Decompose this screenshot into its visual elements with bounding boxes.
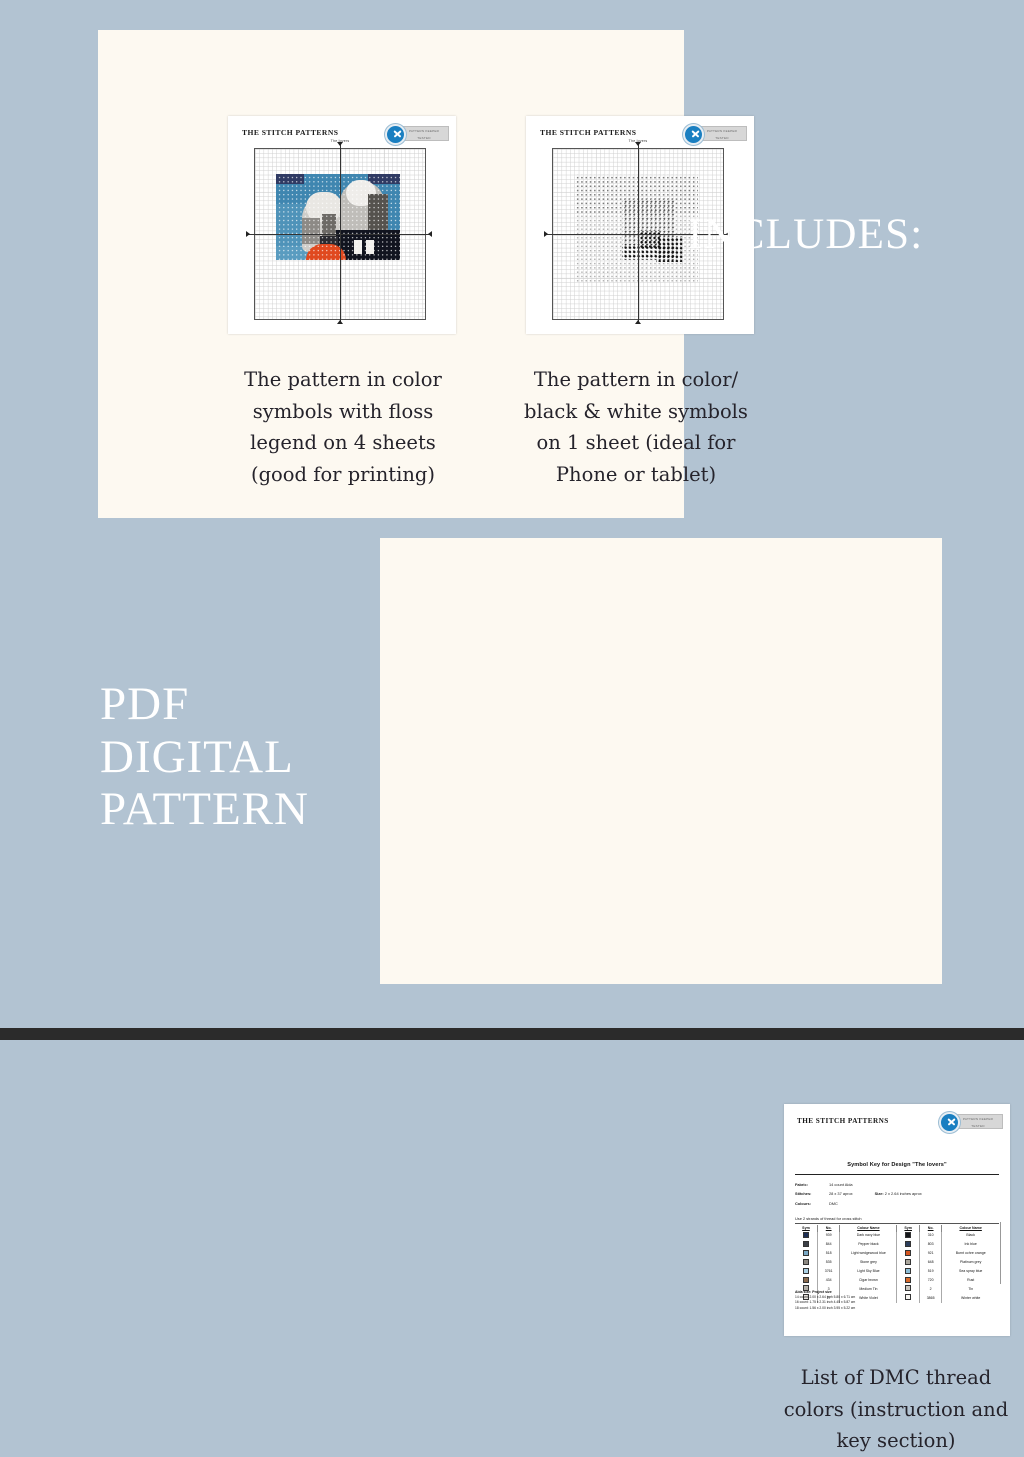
column-divider <box>1000 1222 1001 1284</box>
cell-colour-name: Light wedgewood blue <box>840 1249 897 1258</box>
spec-label: Stitches: <box>795 1189 829 1198</box>
caption-bw-symbols: The pattern in color/ black & white symb… <box>516 364 756 490</box>
x-check-badge-icon <box>939 1112 960 1133</box>
cell-colour-name: Dark navy blue <box>840 1232 897 1241</box>
color-swatch <box>803 1268 809 1274</box>
cell-no: 519 <box>919 1267 941 1276</box>
cell-colour-name: Tin <box>942 1285 999 1294</box>
color-swatch <box>905 1294 911 1300</box>
cell-no: 720 <box>919 1276 941 1285</box>
color-swatch <box>803 1250 809 1256</box>
cell-sym <box>795 1249 817 1258</box>
cell-no: 310 <box>919 1232 941 1241</box>
cell-colour-name: Stone grey <box>840 1258 897 1267</box>
bottom-bar <box>0 1028 1024 1040</box>
color-swatch <box>803 1277 809 1283</box>
cell-colour-name: Cigar brown <box>840 1276 897 1285</box>
chart-artwork <box>276 174 400 284</box>
table-row: 518Light wedgewood blue921Burnt ochre or… <box>795 1249 999 1258</box>
cell-no: 3865 <box>919 1294 941 1303</box>
color-swatch <box>803 1241 809 1247</box>
aida-heading-b: Project size <box>812 1290 831 1294</box>
badge-line1: PATTERN KEEPER <box>400 127 448 134</box>
cell-sym <box>897 1258 919 1267</box>
color-swatch <box>905 1241 911 1247</box>
symbol-key-title: Symbol Key for Design "The lovers" <box>784 1162 1010 1168</box>
fabric-specs: Fabric:14 count Aida Stitches:28 x 37 ap… <box>795 1180 922 1208</box>
cell-sym <box>795 1232 817 1241</box>
cell-colour-name: Winter white <box>942 1294 999 1303</box>
cell-sym <box>897 1240 919 1249</box>
caption-dmc-list: List of DMC thread colors (instruction a… <box>776 1362 1016 1457</box>
table-row: 3761Light Sky Blue519Sea spray blue <box>795 1267 999 1276</box>
spec-label: Colours: <box>795 1199 829 1208</box>
cell-no: 535 <box>817 1258 839 1267</box>
promo-graphic: THE STITCH PATTERNS PATTERN KEEPER TESTE… <box>0 0 1024 1040</box>
cell-no: 434 <box>817 1276 839 1285</box>
cell-sym <box>897 1276 919 1285</box>
table-row: 939Dark navy blue310Black <box>795 1232 999 1241</box>
color-swatch <box>905 1259 911 1265</box>
table-row: 434Cigar brown720Rust <box>795 1276 999 1285</box>
aida-heading-a: Aida size: <box>795 1290 811 1294</box>
cell-colour-name: Pepper black <box>840 1240 897 1249</box>
spec-label: Fabric: <box>795 1180 829 1189</box>
sheet-color-symbol-chart[interactable]: THE STITCH PATTERNS PATTERN KEEPER TESTE… <box>228 116 456 334</box>
use-strands-note: Use 2 strands of thread for cross stitch <box>795 1216 862 1221</box>
cell-no: 921 <box>919 1249 941 1258</box>
badge-line1: PATTERN KEEPER <box>698 127 746 134</box>
pdf-line-2: DIGITAL <box>100 731 370 784</box>
cell-colour-name: Rust <box>942 1276 999 1285</box>
size-value: 2 x 2.64 inches aprox <box>885 1191 922 1196</box>
cell-sym <box>795 1258 817 1267</box>
cell-no: 2 <box>919 1285 941 1294</box>
pattern-keeper-badge: PATTERN KEEPER TESTED <box>939 1112 1001 1129</box>
cell-colour-name: Sea spray blue <box>942 1267 999 1276</box>
sheet-symbol-key[interactable]: THE STITCH PATTERNS PATTERN KEEPER TESTE… <box>784 1104 1010 1336</box>
spec-value: DMC <box>829 1201 838 1206</box>
cell-sym <box>897 1285 919 1294</box>
sheet-title: THE STITCH PATTERNS <box>242 128 338 137</box>
cell-sym <box>795 1240 817 1249</box>
sheet-title: THE STITCH PATTERNS <box>797 1117 889 1125</box>
badge-ribbon: PATTERN KEEPER TESTED <box>953 1114 1003 1129</box>
table-row: 535Stone grey648Platinum grey <box>795 1258 999 1267</box>
color-chart: The lovers <box>254 148 426 320</box>
aida-row: 18 count: 1.56 x 2.00 inch 3.95 x 5.22 c… <box>795 1306 855 1311</box>
aida-row: 16 count: 1.75 x 2.31 inch 4.45 x 5.87 c… <box>795 1300 855 1305</box>
pdf-digital-pattern-heading: PDF DIGITAL PATTERN <box>100 678 370 836</box>
divider <box>795 1174 999 1175</box>
divider <box>795 1223 999 1224</box>
cell-sym <box>795 1267 817 1276</box>
spec-colours: Colours:DMC <box>795 1199 922 1208</box>
badge-line2: TESTED <box>954 1122 1002 1129</box>
cell-no: 518 <box>817 1249 839 1258</box>
cell-no: 803 <box>919 1240 941 1249</box>
includes-heading: INCLUDES: <box>688 212 1018 257</box>
pdf-line-1: PDF <box>100 678 370 731</box>
aida-size-block: Aida size: Project size 14 count: 2.00 x… <box>795 1290 855 1311</box>
spec-value: 14 count Aida <box>829 1182 853 1187</box>
size-label: Size: <box>875 1191 884 1196</box>
color-swatch <box>905 1285 911 1291</box>
cell-sym <box>897 1267 919 1276</box>
cell-no: 939 <box>817 1232 839 1241</box>
cell-colour-name: Light Sky Blue <box>840 1267 897 1276</box>
color-swatch <box>905 1268 911 1274</box>
cell-no: 844 <box>817 1240 839 1249</box>
badge-line1: PATTERN KEEPER <box>954 1115 1002 1122</box>
top-panel: THE STITCH PATTERNS PATTERN KEEPER TESTE… <box>98 30 684 518</box>
cell-sym <box>897 1249 919 1258</box>
caption-color-symbols: The pattern in color symbols with floss … <box>228 364 458 490</box>
cell-sym <box>795 1276 817 1285</box>
bottom-panel: THE STITCH PATTERNS PATTERN KEEPER TESTE… <box>380 538 942 984</box>
spec-value: 28 x 37 aprox <box>829 1191 853 1196</box>
cell-colour-name: Platinum grey <box>942 1258 999 1267</box>
cell-colour-name: Black <box>942 1232 999 1241</box>
spec-stitches: Stitches:28 x 37 aproxSize: 2 x 2.64 inc… <box>795 1189 922 1198</box>
cell-no: 648 <box>919 1258 941 1267</box>
cell-sym <box>897 1294 919 1303</box>
color-swatch <box>905 1277 911 1283</box>
table-row: 844Pepper black803Ink blue <box>795 1240 999 1249</box>
cell-colour-name: Burnt ochre orange <box>942 1249 999 1258</box>
color-swatch <box>803 1259 809 1265</box>
pdf-line-3: PATTERN <box>100 783 370 836</box>
cell-no: 3761 <box>817 1267 839 1276</box>
sheet-title: THE STITCH PATTERNS <box>540 128 636 137</box>
color-swatch <box>803 1232 809 1238</box>
cell-colour-name: Ink blue <box>942 1240 999 1249</box>
color-swatch <box>905 1232 911 1238</box>
spec-fabric: Fabric:14 count Aida <box>795 1180 922 1189</box>
color-swatch <box>905 1250 911 1256</box>
cell-sym <box>897 1232 919 1241</box>
